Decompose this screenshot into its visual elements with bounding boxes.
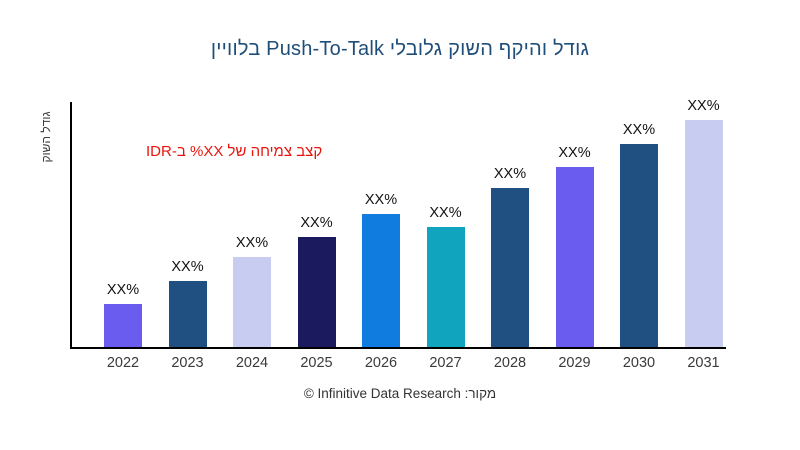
bar-group [298,237,336,347]
bar-value-label: XX% [220,235,284,251]
bar-2022[interactable] [104,304,142,347]
bar-2031[interactable] [685,120,723,347]
x-tick-label-2023: 2023 [153,355,223,371]
chart-title: גודל והיקף השוק גלובלי Push-To-Talk בלוו… [0,38,800,61]
x-tick-label-2031: 2031 [669,355,739,371]
bar-2026[interactable] [362,214,400,347]
bar-group [491,188,529,347]
bar-2025[interactable] [298,237,336,347]
bar-2030[interactable] [620,144,658,347]
bar-group [362,214,400,347]
bar-2029[interactable] [556,167,594,347]
bar-2028[interactable] [491,188,529,347]
bar-group [620,144,658,347]
bar-value-label: XX% [156,259,220,275]
x-tick-label-2029: 2029 [540,355,610,371]
bar-group [104,304,142,347]
bar-2024[interactable] [233,257,271,347]
bar-value-label: XX% [607,122,671,138]
x-tick-label-2027: 2027 [411,355,481,371]
x-tick-label-2028: 2028 [475,355,545,371]
bar-value-label: XX% [672,98,736,114]
x-tick-label-2022: 2022 [88,355,158,371]
bar-value-label: XX% [543,145,607,161]
bar-value-label: XX% [414,205,478,221]
bar-2027[interactable] [427,227,465,347]
bar-value-label: XX% [285,215,349,231]
bar-value-label: XX% [478,166,542,182]
bar-group [685,120,723,347]
bar-group [556,167,594,347]
bar-value-label: XX% [349,192,413,208]
x-tick-label-2026: 2026 [346,355,416,371]
bar-value-label: XX% [91,282,155,298]
bar-group [169,281,207,347]
x-tick-label-2024: 2024 [217,355,287,371]
x-tick-label-2030: 2030 [604,355,674,371]
bar-group [233,257,271,347]
y-axis-label: גודל השוק [39,77,53,197]
x-tick-label-2025: 2025 [282,355,352,371]
bar-group [427,227,465,347]
source-note: מקור: Infinitive Data Research © [0,386,800,401]
bar-2023[interactable] [169,281,207,347]
chart-canvas: גודל והיקף השוק גלובלי Push-To-Talk בלוו… [0,0,800,450]
